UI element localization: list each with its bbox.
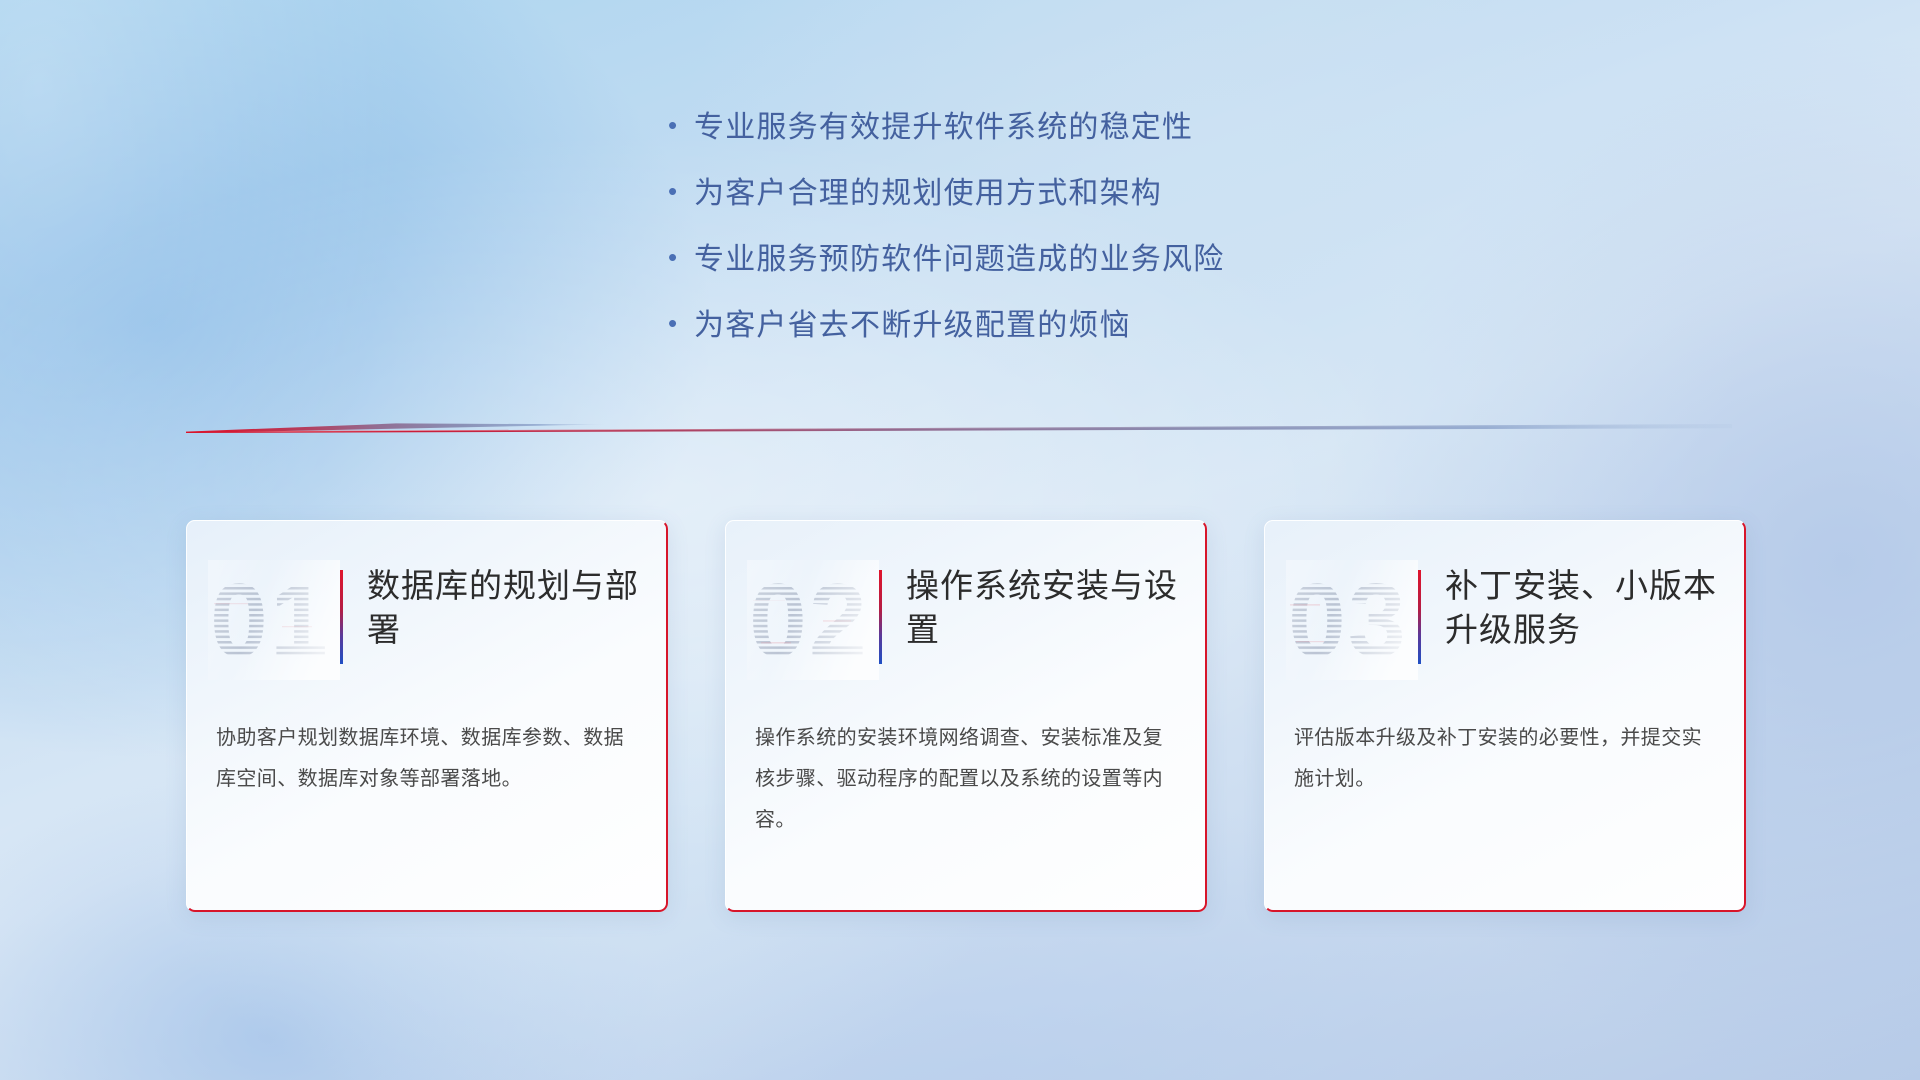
striped-number-icon: 01 xyxy=(208,560,340,680)
benefits-bullet-list: • 专业服务有效提升软件系统的稳定性 • 为客户合理的规划使用方式和架构 • 专… xyxy=(668,108,1568,372)
striped-number-icon: 02 xyxy=(747,560,879,680)
slide-canvas: • 专业服务有效提升软件系统的稳定性 • 为客户合理的规划使用方式和架构 • 专… xyxy=(0,0,1920,1080)
divider xyxy=(186,418,1732,436)
service-card[interactable]: 02 操作系统安装与设置 操作系统的安装环境网络调查、安装标准及复核步骤、驱动程… xyxy=(725,520,1207,912)
bullet-marker-icon: • xyxy=(668,244,694,270)
bullet-marker-icon: • xyxy=(668,112,694,138)
card-number-graphic: 01 xyxy=(208,560,340,680)
card-title: 数据库的规划与部署 xyxy=(367,554,642,651)
bullet-text: 专业服务预防软件问题造成的业务风险 xyxy=(694,240,1224,279)
card-title: 操作系统安装与设置 xyxy=(906,554,1181,651)
service-card[interactable]: 01 数据库的规划与部署 协助客户规划数据库环境、数据库参数、数据库空间、数据库… xyxy=(186,520,668,912)
card-number-graphic: 03 xyxy=(1286,560,1418,680)
tapered-line-icon xyxy=(186,418,1732,436)
bullet-text: 为客户省去不断升级配置的烦恼 xyxy=(694,306,1131,345)
list-item: • 为客户省去不断升级配置的烦恼 xyxy=(668,306,1568,345)
bullet-marker-icon: • xyxy=(668,310,694,336)
list-item: • 为客户合理的规划使用方式和架构 xyxy=(668,174,1568,213)
bullet-text: 专业服务有效提升软件系统的稳定性 xyxy=(694,108,1193,147)
service-card-row: 01 数据库的规划与部署 协助客户规划数据库环境、数据库参数、数据库空间、数据库… xyxy=(186,520,1746,912)
bullet-marker-icon: • xyxy=(668,178,694,204)
card-title: 补丁安装、小版本升级服务 xyxy=(1445,554,1720,651)
card-header: 02 操作系统安装与设置 xyxy=(725,520,1207,696)
list-item: • 专业服务预防软件问题造成的业务风险 xyxy=(668,240,1568,279)
title-accent-bar xyxy=(1418,570,1421,664)
list-item: • 专业服务有效提升软件系统的稳定性 xyxy=(668,108,1568,147)
service-card[interactable]: 03 补丁安装、小版本升级服务 评估版本升级及补丁安装的必要性，并提交实施计划。 xyxy=(1264,520,1746,912)
card-header: 03 补丁安装、小版本升级服务 xyxy=(1264,520,1746,696)
card-header: 01 数据库的规划与部署 xyxy=(186,520,668,696)
card-description: 协助客户规划数据库环境、数据库参数、数据库空间、数据库对象等部署落地。 xyxy=(186,696,668,800)
card-number-graphic: 02 xyxy=(747,560,879,680)
card-description: 操作系统的安装环境网络调查、安装标准及复核步骤、驱动程序的配置以及系统的设置等内… xyxy=(725,696,1207,841)
title-accent-bar xyxy=(879,570,882,664)
card-description: 评估版本升级及补丁安装的必要性，并提交实施计划。 xyxy=(1264,696,1746,800)
title-accent-bar xyxy=(340,570,343,664)
striped-number-icon: 03 xyxy=(1286,560,1418,680)
bullet-text: 为客户合理的规划使用方式和架构 xyxy=(694,174,1162,213)
